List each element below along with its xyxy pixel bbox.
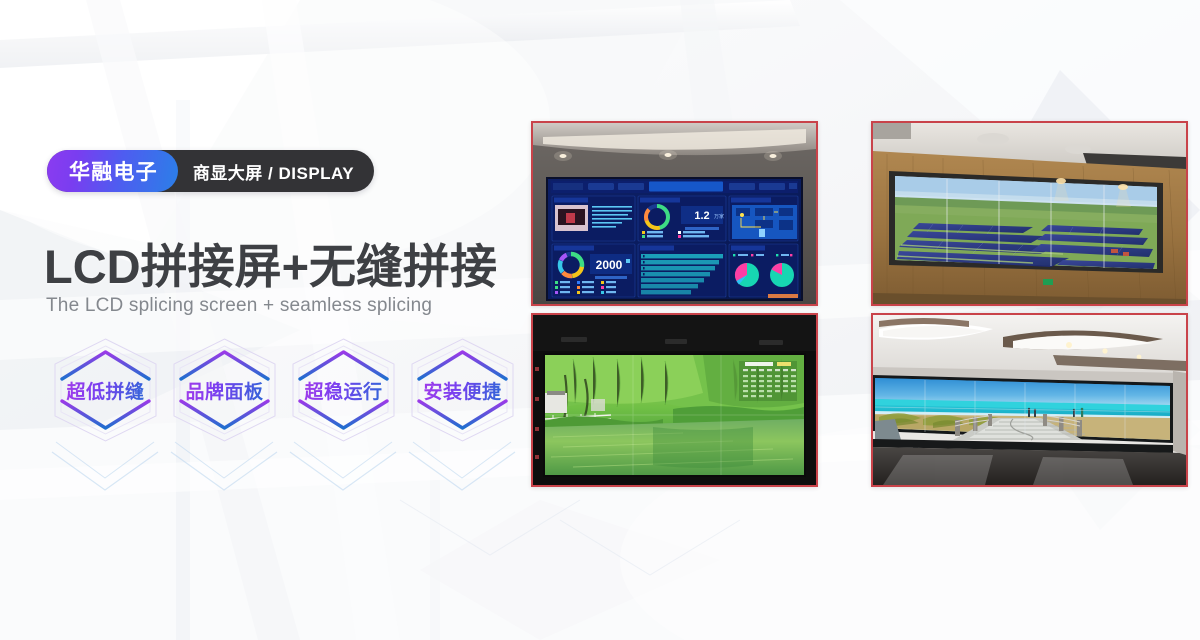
svg-text:2000: 2000 [596,258,623,272]
photo-video-wall-solar-farm [871,121,1188,306]
feature-badge-4: 安装便捷 [403,334,522,446]
page-subtitle: The LCD splicing screen + seamless splic… [46,295,432,317]
product-banner: 华融电子 商显大屏 / DISPLAY LCD拼接屏+无缝拼接 The LCD … [0,0,1200,640]
feature-badge-row: 超低拼缝 品牌面板 [46,334,522,446]
feature-badge-2: 品牌面板 [165,334,284,446]
svg-text:万家: 万家 [714,213,724,220]
photo-video-wall-beach-boardwalk [871,313,1188,487]
feature-badge-1: 超低拼缝 [46,334,165,446]
feature-label: 超稳运行 [304,377,382,404]
feature-badge-3: 超稳运行 [284,334,403,446]
svg-text:1.2: 1.2 [694,210,709,222]
feature-label: 品牌面板 [185,377,263,404]
photo-video-wall-garden-pond [531,313,818,487]
photo-video-wall-data-dashboard: 1.2 万家 [531,121,818,306]
category-label: 商显大屏 / DISPLAY [178,150,374,192]
feature-label: 超低拼缝 [66,377,144,404]
brand-name-pill: 华融电子 [47,150,178,192]
brand-badge-row: 华融电子 商显大屏 / DISPLAY [47,150,374,192]
feature-label: 安装便捷 [423,377,501,404]
page-title: LCD拼接屏+无缝拼接 [44,228,497,297]
